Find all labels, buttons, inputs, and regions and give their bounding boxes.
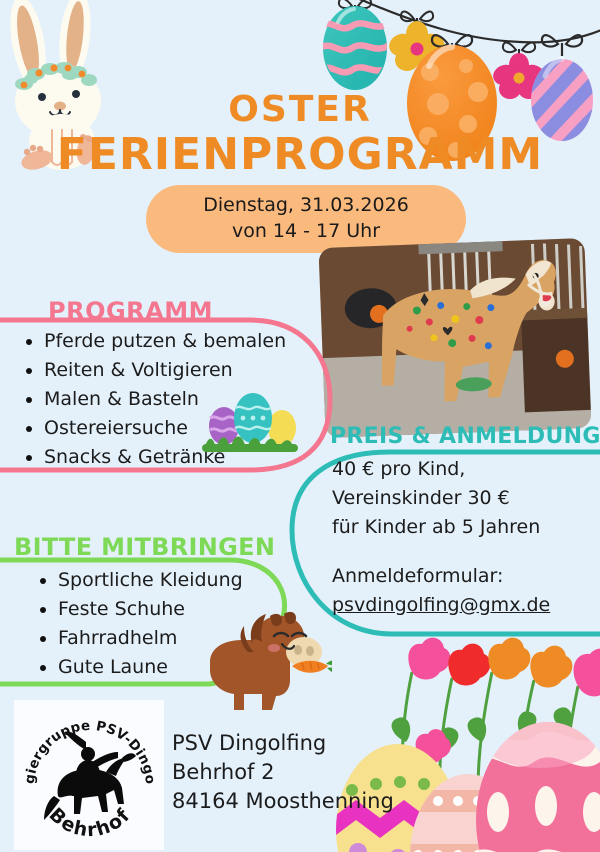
yellow-flower-icon (386, 12, 448, 71)
pink-easter-egg-icon (470, 716, 600, 852)
registration-email-link[interactable]: psvdingolfing@gmx.de (332, 594, 550, 616)
price-line-2: Vereinskinder 30 € (332, 484, 582, 513)
registration-label: Anmeldeformular: (332, 562, 582, 591)
price-line-3: für Kinder ab 5 Jahren (332, 513, 582, 542)
address-line-3: 84164 Moosthenning (172, 787, 394, 816)
pink-flower-icon (490, 43, 547, 99)
club-logo: Voltigiergruppe PSV-Dingolfing Behrhof (14, 700, 164, 850)
flower-crown-icon (15, 62, 97, 90)
mitbringen-heading: BITTE MITBRINGEN (14, 533, 275, 561)
preis-heading: PREIS & ANMELDUNG (330, 424, 600, 449)
peach-easter-egg-icon (404, 774, 536, 852)
flowers-cluster-icon (392, 638, 600, 800)
club-address: PSV Dingolfing Behrhof 2 84164 Moosthenn… (172, 729, 394, 816)
spacer (332, 542, 582, 562)
address-line-1: PSV Dingolfing (172, 729, 394, 758)
preis-body: 40 € pro Kind, Vereinskinder 30 € für Ki… (332, 455, 582, 620)
title-line-2: FERIENPROGRAMM (0, 132, 600, 178)
poster-title: OSTER FERIENPROGRAMM (0, 92, 600, 178)
garland-string (348, 0, 600, 42)
address-line-2: Behrhof 2 (172, 758, 394, 787)
list-item: Reiten & Voltigieren (22, 356, 286, 385)
date-banner: Dienstag, 31.03.2026 von 14 - 17 Uhr (146, 185, 466, 253)
easter-program-poster: OSTER FERIENPROGRAMM Dienstag, 31.03.202… (0, 0, 600, 852)
title-line-1: OSTER (0, 92, 600, 128)
programm-heading: PROGRAMM (48, 297, 213, 325)
date-line: Dienstag, 31.03.2026 (203, 193, 409, 219)
list-item: Pferde putzen & bemalen (22, 327, 286, 356)
eggs-in-grass-icon (198, 392, 308, 454)
horse-photo (318, 238, 591, 438)
horse-photo-image (318, 238, 591, 438)
teal-egg-icon (320, 0, 388, 90)
cartoon-horse-icon (206, 608, 332, 712)
list-item: Sportliche Kleidung (36, 566, 243, 595)
time-line: von 14 - 17 Uhr (232, 219, 380, 245)
price-line-1: 40 € pro Kind, (332, 455, 582, 484)
